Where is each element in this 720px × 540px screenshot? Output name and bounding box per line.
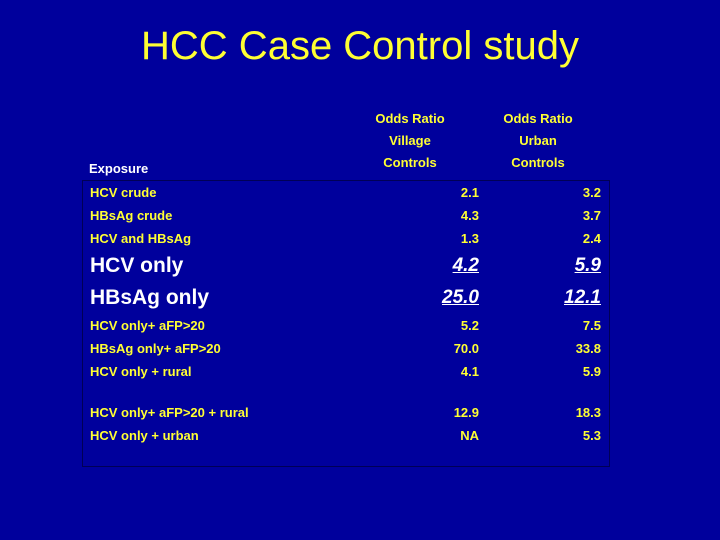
row-label: HCV crude (90, 181, 156, 204)
row-label: HCV only+ aFP>20 + rural (90, 401, 249, 424)
column-header-urban-line1: Odds Ratio (478, 108, 598, 130)
table-row: HCV and HBsAg1.32.4 (83, 227, 609, 250)
row-value-village: 4.1 (359, 360, 479, 383)
row-label: HBsAg only (90, 282, 209, 314)
row-value-urban: 33.8 (481, 337, 601, 360)
row-value-village: 25.0 (359, 282, 479, 314)
row-value-village: 5.2 (359, 314, 479, 337)
row-value-urban: 3.2 (481, 181, 601, 204)
column-header-village-line1: Odds Ratio (350, 108, 470, 130)
table-row: HBsAg only+ aFP>2070.033.8 (83, 337, 609, 360)
row-value-urban: 18.3 (481, 401, 601, 424)
row-value-village: 70.0 (359, 337, 479, 360)
row-value-urban: 5.9 (481, 360, 601, 383)
row-label: HBsAg only+ aFP>20 (90, 337, 221, 360)
table-row: HCV only4.25.9 (83, 250, 609, 282)
row-value-urban: 5.9 (481, 250, 601, 282)
slide-canvas: HCC Case Control study Odds Ratio Villag… (0, 0, 720, 540)
results-table: HCV crude2.13.2HBsAg crude4.33.7HCV and … (82, 180, 610, 467)
column-header-village: Odds Ratio Village Controls (350, 108, 470, 174)
table-row: HCV only + rural4.15.9 (83, 360, 609, 383)
page-title: HCC Case Control study (0, 22, 720, 70)
row-label: HCV and HBsAg (90, 227, 191, 250)
column-header-urban: Odds Ratio Urban Controls (478, 108, 598, 174)
row-value-village: 4.2 (359, 250, 479, 282)
column-header-urban-line3: Controls (478, 152, 598, 174)
table-row: HBsAg only25.012.1 (83, 282, 609, 314)
row-value-village: 2.1 (359, 181, 479, 204)
column-header-urban-line2: Urban (478, 130, 598, 152)
table-row: HCV only + urbanNA5.3 (83, 424, 609, 447)
table-row-spacer (83, 383, 609, 401)
row-label: HCV only + urban (90, 424, 199, 447)
column-header-village-line2: Village (350, 130, 470, 152)
row-value-urban: 7.5 (481, 314, 601, 337)
row-value-village: 4.3 (359, 204, 479, 227)
row-value-village: NA (359, 424, 479, 447)
row-value-village: 12.9 (359, 401, 479, 424)
table-row: HCV only+ aFP>20 + rural12.918.3 (83, 401, 609, 424)
table-row: HCV only+ aFP>205.27.5 (83, 314, 609, 337)
row-value-village: 1.3 (359, 227, 479, 250)
table-row: HBsAg crude4.33.7 (83, 204, 609, 227)
table-row: HCV crude2.13.2 (83, 181, 609, 204)
row-value-urban: 2.4 (481, 227, 601, 250)
column-headers: Odds Ratio Village Controls Odds Ratio U… (82, 108, 610, 180)
row-value-urban: 12.1 (481, 282, 601, 314)
row-label: HCV only (90, 250, 183, 282)
row-label: HBsAg crude (90, 204, 172, 227)
row-label: HCV only+ aFP>20 (90, 314, 205, 337)
row-value-urban: 5.3 (481, 424, 601, 447)
column-header-exposure: Exposure (89, 160, 148, 178)
row-label: HCV only + rural (90, 360, 192, 383)
row-value-urban: 3.7 (481, 204, 601, 227)
column-header-village-line3: Controls (350, 152, 470, 174)
